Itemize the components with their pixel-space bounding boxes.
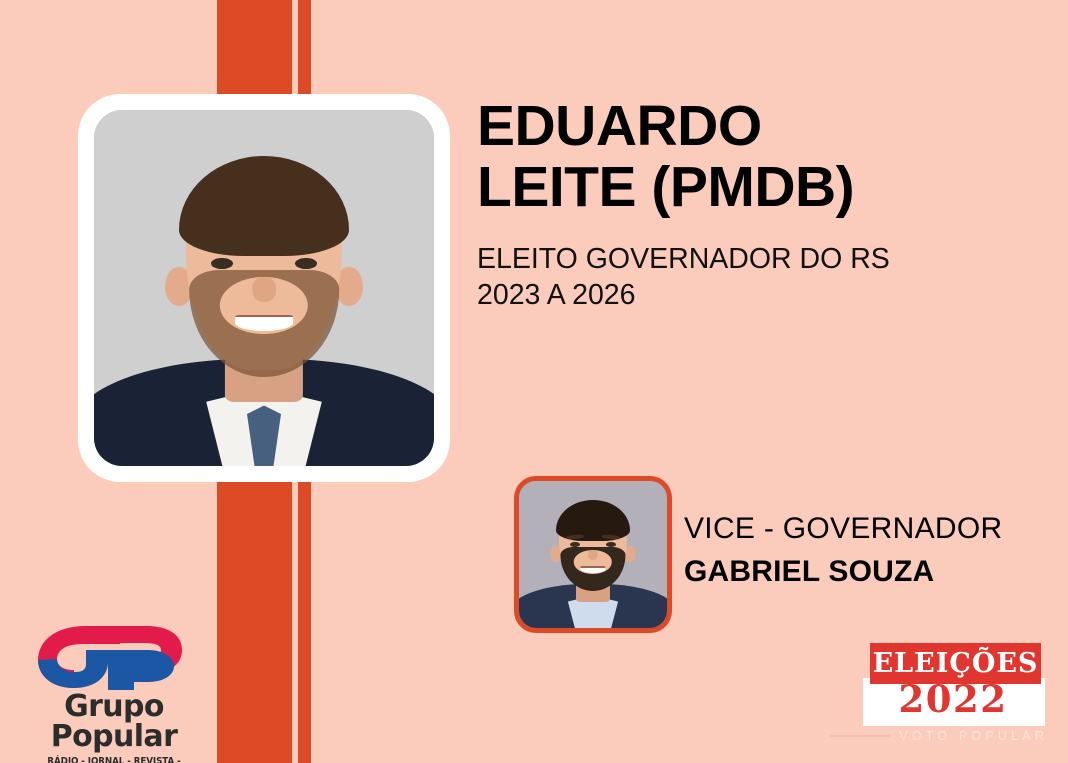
logo-tagline: RÁDIO - JORNAL - REVISTA - MÍDIAS DIGITA… [31,756,197,763]
grupo-popular-logo: Grupo Popular RÁDIO - JORNAL - REVISTA -… [24,622,204,763]
candidate-role: ELEITO GOVERNADOR DO RS [477,240,997,279]
badge-footer: VOTO POPULAR [830,729,1048,743]
badge-year-wrap: 2022 [862,681,1044,718]
candidate-name-line2: LEITE (PMDB) [477,157,997,218]
gp-monogram-icon [24,622,204,694]
logo-name: Grupo Popular [24,692,204,752]
election-poster: EDUARDO LEITE (PMDB) ELEITO GOVERNADOR D… [0,0,1068,763]
vice-portrait-eye-left [570,542,580,547]
badge-footer-text: VOTO POPULAR [899,729,1048,743]
vice-text-block: VICE - GOVERNADOR GABRIEL SOUZA [684,512,1054,589]
vice-label: VICE - GOVERNADOR [684,512,1054,546]
candidate-name-line1: EDUARDO [477,96,997,157]
vice-portrait-eye-right [606,542,616,547]
vice-portrait-mouth [580,566,605,574]
portrait-illustration [94,110,434,466]
vice-name: GABRIEL SOUZA [684,555,1054,589]
candidate-title-block: EDUARDO LEITE (PMDB) ELEITO GOVERNADOR D… [477,96,997,312]
badge-red-banner: ELEIÇÕES [870,643,1041,684]
portrait-nose [252,277,276,302]
badge-title: ELEIÇÕES [873,650,1039,677]
candidate-term: 2023 A 2026 [477,279,997,312]
vice-photo [519,481,667,628]
badge-divider-rule [830,735,890,737]
candidate-photo-frame [78,94,450,482]
vice-portrait-illustration [519,481,667,628]
eleicoes-2022-badge: 2022 ELEIÇÕES VOTO POPULAR [862,643,1048,738]
portrait-eye-right [295,258,317,269]
vice-photo-frame [514,476,672,633]
candidate-photo [94,110,434,466]
